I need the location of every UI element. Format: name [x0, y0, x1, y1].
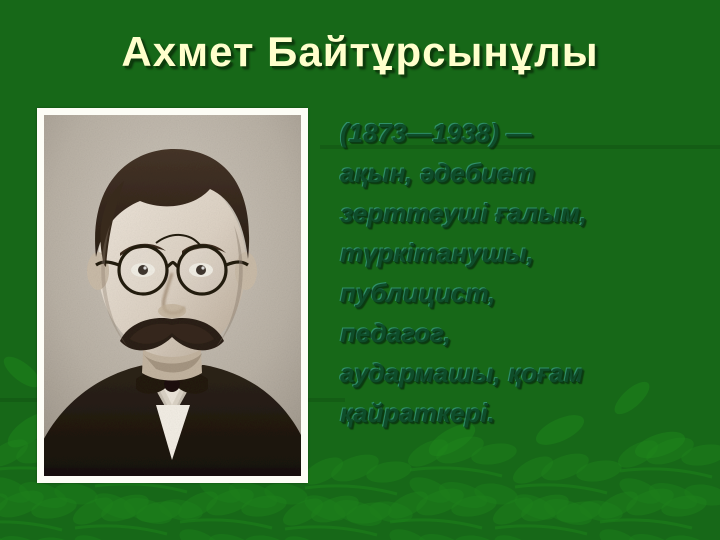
description-line: зерттеуші ғалым, [340, 193, 712, 233]
description-line: ақын, әдебиет [340, 153, 712, 193]
description-text: (1873—1938) — ақын, әдебиет зерттеуші ға… [340, 113, 712, 433]
page-title: Ахмет Байтұрсынұлы [0, 28, 720, 76]
portrait-photo [44, 115, 301, 476]
description-line: аудармашы, қоғам [340, 353, 712, 393]
description-line: (1873—1938) — [340, 113, 712, 153]
portrait-frame [37, 108, 308, 483]
description-line: қайраткері. [340, 393, 712, 433]
presentation-slide: Ахмет Байтұрсынұлы [0, 0, 720, 540]
description-line: педагог, [340, 313, 712, 353]
description-line: түркітанушы, [340, 233, 712, 273]
description-line: публицист, [340, 273, 712, 313]
